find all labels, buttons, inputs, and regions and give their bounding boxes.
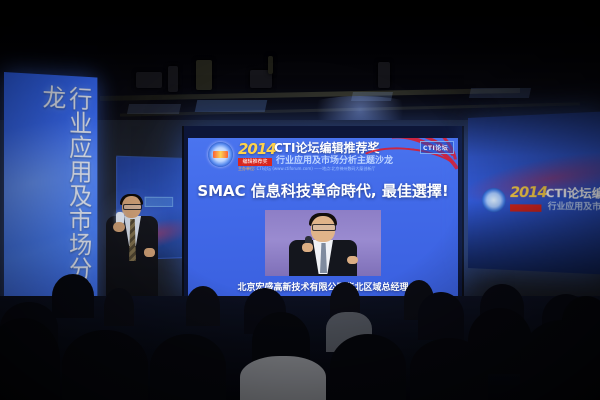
audience-silhouette-front [562, 296, 600, 346]
audience-silhouette-front [62, 330, 148, 400]
audience-shirt-light [240, 356, 326, 400]
photo-hand [302, 243, 313, 252]
audience-silhouette [52, 274, 94, 318]
photo-hand-right [347, 256, 358, 264]
slide-year-tag: 编辑推荐奖 [238, 158, 272, 166]
audience-silhouette [104, 288, 134, 326]
award-seal-icon [208, 142, 233, 167]
light-rigging-rod [268, 56, 273, 74]
ceiling-panel [195, 100, 268, 112]
main-projection-screen: 2014 编辑推荐奖 CTI论坛编辑推荐奖 行业应用及市场分析主题沙龙 主办单位… [182, 126, 464, 298]
presenter-hand-right [144, 248, 155, 257]
cti-forum-logo-text: CTI论坛 [423, 143, 448, 152]
stage-light-fixture [168, 66, 178, 92]
slide-main-title: SMAC 信息科技革命時代, 最佳選擇! [188, 180, 458, 201]
audience-silhouette [418, 292, 464, 340]
presentation-slide: 2014 编辑推荐奖 CTI论坛编辑推荐奖 行业应用及市场分析主题沙龙 主办单位… [188, 138, 458, 298]
conference-hall-scene: 行业应用及市场分析主题沙龙 推荐奖 市场分析主题 2014 编辑推荐奖 CTI论… [0, 0, 600, 400]
stage-light-fixture [136, 72, 162, 88]
slide-speaker-photo [265, 210, 381, 276]
ceiling-panel [469, 88, 531, 98]
audience-silhouette-front [330, 334, 406, 400]
photo-glasses-icon [312, 224, 336, 231]
right-wall-screen: 2014 CTI论坛编辑推荐奖 行业应用及市场分析主题沙龙 [468, 111, 600, 274]
presenter-hand [113, 222, 125, 232]
stage-light-fixture [378, 62, 390, 88]
stage-light-fixture [196, 60, 212, 90]
audience-silhouette-front [150, 334, 226, 400]
right-screen-shading [468, 111, 600, 274]
slide-url-org: 主办单位: [238, 166, 255, 171]
slide-header: 2014 编辑推荐奖 CTI论坛编辑推荐奖 行业应用及市场分析主题沙龙 主办单位… [188, 138, 458, 171]
presenter-glasses-icon [123, 204, 142, 210]
slide-year: 2014 [238, 140, 276, 158]
ceiling-panel [127, 104, 181, 114]
cti-forum-logo: CTI论坛 [420, 141, 454, 154]
audience-silhouette [186, 286, 220, 326]
